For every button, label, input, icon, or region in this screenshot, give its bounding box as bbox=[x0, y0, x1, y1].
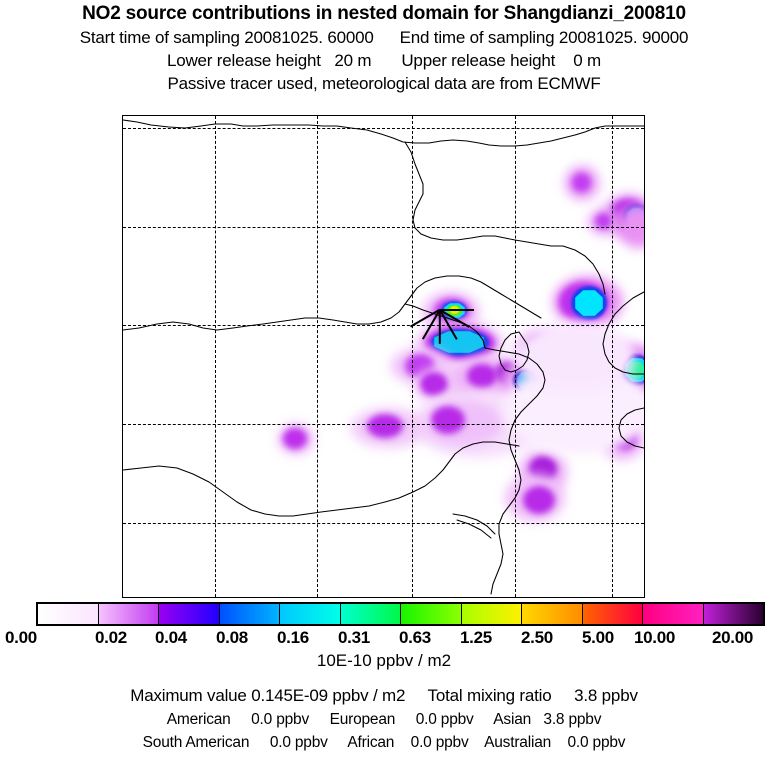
lower-release-height-text: Lower release height 20 m bbox=[167, 49, 371, 72]
gridline-horizontal bbox=[123, 128, 644, 129]
region-value-australian: 0.0 ppbv bbox=[567, 734, 625, 751]
colorbar-tick-label: 0.63 bbox=[399, 628, 431, 648]
map-canvas bbox=[123, 116, 644, 597]
colorbar-segment bbox=[401, 604, 462, 624]
colorbar-segment bbox=[704, 604, 764, 624]
gridline-horizontal bbox=[123, 325, 644, 326]
colorbar-segment bbox=[280, 604, 341, 624]
figure-footer: Maximum value 0.145E-09 ppbv / m2 Total … bbox=[0, 684, 768, 754]
release-height-row: Lower release height 20 m Upper release … bbox=[0, 49, 768, 72]
figure-header: NO2 source contributions in nested domai… bbox=[0, 0, 768, 95]
colorbar-tick-label: 0.02 bbox=[95, 628, 127, 648]
gridline-vertical bbox=[215, 116, 216, 597]
gridline-horizontal bbox=[123, 523, 644, 524]
coastline-path bbox=[499, 332, 529, 372]
total-mixing-ratio-value: 3.8 ppbv bbox=[574, 686, 638, 705]
maximum-value-label: Maximum value bbox=[130, 686, 246, 705]
colorbar-tick-label: 0.00 bbox=[5, 628, 37, 648]
region-name-asian: Asian bbox=[493, 711, 531, 728]
gridline-vertical bbox=[515, 116, 516, 597]
gridline-vertical bbox=[612, 116, 613, 597]
coastline-path bbox=[405, 142, 563, 246]
tracer-meta-row: Passive tracer used, meteorological data… bbox=[0, 72, 768, 95]
colorbar-tick-label: 0.08 bbox=[216, 628, 248, 648]
region-name-american: American bbox=[167, 711, 231, 728]
total-mixing-ratio-label: Total mixing ratio bbox=[428, 686, 552, 705]
upper-release-height-text: Upper release height 0 m bbox=[401, 49, 601, 72]
release-point-marker bbox=[439, 292, 475, 328]
colorbar-tick-label: 1.25 bbox=[460, 628, 492, 648]
region-value-african: 0.0 ppbv bbox=[411, 734, 469, 751]
region-name-european: European bbox=[330, 711, 396, 728]
coastline-path bbox=[563, 246, 605, 294]
colorbar-gradient bbox=[36, 602, 765, 626]
spacer bbox=[371, 49, 401, 72]
colorbar-tick-label: 0.31 bbox=[338, 628, 370, 648]
colorbar-segment bbox=[38, 604, 99, 624]
maximum-value-text: 0.145E-09 ppbv / m2 bbox=[251, 686, 405, 705]
colorbar-ticks: 0.00 0.02 0.04 0.08 0.16 0.31 0.63 1.25 … bbox=[36, 628, 768, 650]
colorbar-tick-label: 5.00 bbox=[582, 628, 614, 648]
gridline-horizontal bbox=[123, 424, 644, 425]
page-title: NO2 source contributions in nested domai… bbox=[0, 0, 768, 26]
colorbar-segment bbox=[341, 604, 402, 624]
colorbar: 0.00 0.02 0.04 0.08 0.16 0.31 0.63 1.25 … bbox=[36, 602, 765, 626]
coastline-path bbox=[123, 442, 519, 516]
colorbar-segment bbox=[99, 604, 160, 624]
marker-spoke bbox=[440, 309, 474, 311]
figure-root: NO2 source contributions in nested domai… bbox=[0, 0, 768, 768]
colorbar-segment bbox=[220, 604, 281, 624]
colorbar-tick-label: 20.00 bbox=[712, 628, 753, 648]
coastline-path bbox=[619, 408, 644, 448]
gridline-vertical bbox=[317, 116, 318, 597]
region-name-african: African bbox=[347, 734, 394, 751]
gridline-horizontal bbox=[123, 227, 644, 228]
region-row-1: American 0.0 ppbv European 0.0 ppbv Asia… bbox=[0, 708, 768, 731]
region-value-american: 0.0 ppbv bbox=[251, 711, 309, 728]
colorbar-segment bbox=[583, 604, 644, 624]
colorbar-segment bbox=[159, 604, 220, 624]
colorbar-segment bbox=[643, 604, 704, 624]
region-name-south-american: South American bbox=[143, 734, 250, 751]
coastline-layer bbox=[123, 116, 644, 597]
sampling-time-row: Start time of sampling 20081025. 60000 E… bbox=[0, 26, 768, 49]
region-value-south-american: 0.0 ppbv bbox=[270, 734, 328, 751]
map-plot-area bbox=[122, 115, 645, 598]
start-time-text: Start time of sampling 20081025. 60000 bbox=[80, 26, 374, 49]
colorbar-tick-label: 2.50 bbox=[521, 628, 553, 648]
colorbar-segment bbox=[522, 604, 583, 624]
region-value-asian: 3.8 ppbv bbox=[543, 711, 601, 728]
region-row-2: South American 0.0 ppbv African 0.0 ppbv… bbox=[0, 731, 768, 754]
colorbar-tick-label: 0.16 bbox=[277, 628, 309, 648]
spacer bbox=[374, 26, 400, 49]
coastline-path bbox=[603, 292, 644, 374]
colorbar-segment bbox=[462, 604, 523, 624]
colorbar-unit-label: 10E-10 ppbv / m2 bbox=[0, 650, 768, 672]
coastline-path bbox=[123, 276, 541, 330]
tracer-description-text: Passive tracer used, meteorological data… bbox=[167, 72, 600, 95]
coastline-path bbox=[453, 514, 495, 534]
summary-row: Maximum value 0.145E-09 ppbv / m2 Total … bbox=[0, 684, 768, 708]
colorbar-tick-label: 10.00 bbox=[634, 628, 675, 648]
end-time-text: End time of sampling 20081025. 90000 bbox=[400, 26, 689, 49]
gridline-vertical bbox=[412, 116, 413, 597]
colorbar-tick-label: 0.04 bbox=[155, 628, 187, 648]
coastline-path bbox=[123, 120, 644, 146]
region-value-european: 0.0 ppbv bbox=[416, 711, 474, 728]
marker-spoke bbox=[439, 310, 441, 344]
region-name-australian: Australian bbox=[484, 734, 551, 751]
